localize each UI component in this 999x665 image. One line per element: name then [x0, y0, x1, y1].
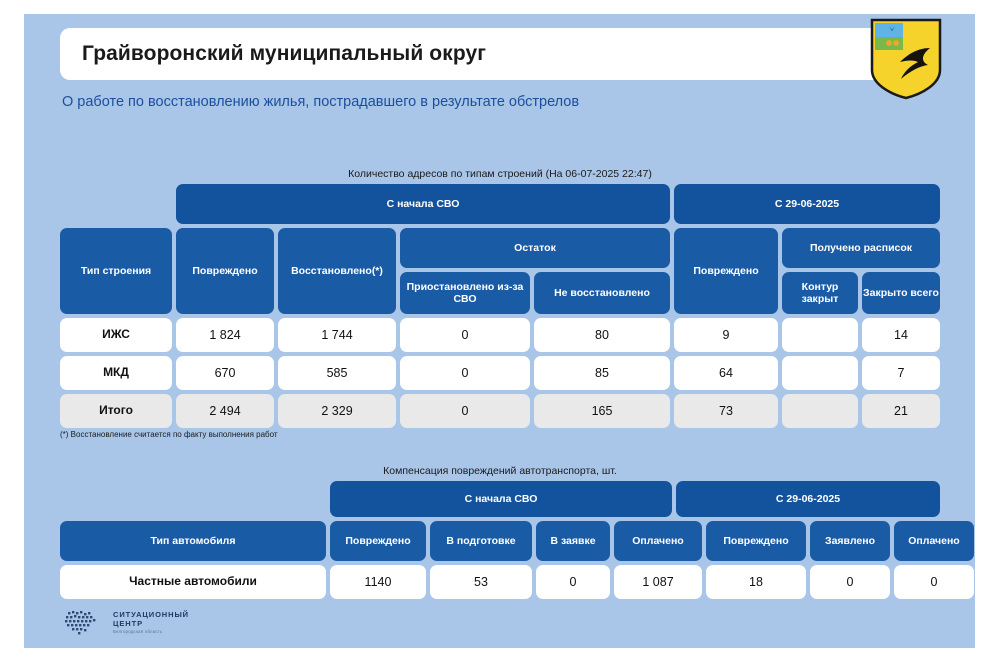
vehicles-cell-in-request: 0 [536, 565, 610, 599]
housing-cell-damaged-1: 670 [176, 356, 274, 390]
housing-group-raspiski: Получено расписок [782, 228, 940, 268]
housing-cell-type: Итого [60, 394, 172, 428]
housing-cell-contour-closed [782, 394, 858, 428]
page-title: Грайворонский муниципальный округ [60, 42, 486, 66]
vehicles-cell-damaged-2: 18 [706, 565, 806, 599]
vehicles-col-damaged-1: Повреждено [330, 521, 426, 561]
housing-cell-type: МКД [60, 356, 172, 390]
housing-cell-damaged-2: 73 [674, 394, 778, 428]
housing-table-caption: Количество адресов по типам строений (На… [60, 168, 940, 180]
housing-group-since-svo: С начала СВО [176, 184, 670, 224]
vehicles-col-paid-1: Оплачено [614, 521, 702, 561]
vehicles-col-paid-2: Оплачено [894, 521, 974, 561]
housing-cell-restored: 2 329 [278, 394, 396, 428]
housing-col-damaged-1: Повреждено [176, 228, 274, 314]
footer-line-3: Белгородская область [113, 629, 189, 634]
housing-cell-damaged-1: 2 494 [176, 394, 274, 428]
housing-cell-contour-closed [782, 356, 858, 390]
coat-of-arms-icon [870, 18, 942, 100]
slide-canvas: Грайворонский муниципальный округ О рабо… [24, 14, 975, 648]
housing-cell-damaged-2: 64 [674, 356, 778, 390]
housing-cell-suspended: 0 [400, 318, 530, 352]
housing-col-suspended: Приостановлено из-за СВО [400, 272, 530, 314]
housing-cell-closed-total: 14 [862, 318, 940, 352]
housing-col-closed-total: Закрыто всего [862, 272, 940, 314]
housing-group-since-date: С 29-06-2025 [674, 184, 940, 224]
housing-cell-closed-total: 21 [862, 394, 940, 428]
vehicles-cell-paid-1: 1 087 [614, 565, 702, 599]
vehicles-cell-damaged-1: 1140 [330, 565, 426, 599]
housing-cell-restored: 585 [278, 356, 396, 390]
housing-col-type: Тип строения [60, 228, 172, 314]
housing-group-ostatok: Остаток [400, 228, 670, 268]
housing-cell-damaged-2: 9 [674, 318, 778, 352]
vehicles-cell-declared: 0 [810, 565, 890, 599]
vehicles-group-since-date: С 29-06-2025 [676, 481, 940, 517]
vehicles-table-caption: Компенсация повреждений автотранспорта, … [60, 465, 940, 477]
footer-branding: СИТУАЦИОННЫЙ ЦЕНТР Белгородская область [62, 608, 189, 636]
housing-col-not-restored: Не восстановлено [534, 272, 670, 314]
housing-cell-suspended: 0 [400, 356, 530, 390]
region-map-icon [62, 608, 104, 636]
housing-col-restored: Восстановлено(*) [278, 228, 396, 314]
housing-cell-not-restored: 165 [534, 394, 670, 428]
housing-footnote: (*) Восстановление считается по факту вы… [60, 430, 278, 439]
housing-cell-not-restored: 80 [534, 318, 670, 352]
housing-cell-suspended: 0 [400, 394, 530, 428]
footer-line-1: СИТУАЦИОННЫЙ [113, 610, 189, 619]
housing-col-contour-closed: Контур закрыт [782, 272, 858, 314]
page-subtitle: О работе по восстановлению жилья, постра… [62, 92, 622, 113]
housing-cell-restored: 1 744 [278, 318, 396, 352]
vehicles-cell-in-prep: 53 [430, 565, 532, 599]
housing-cell-not-restored: 85 [534, 356, 670, 390]
vehicles-col-type: Тип автомобиля [60, 521, 326, 561]
housing-cell-contour-closed [782, 318, 858, 352]
housing-cell-closed-total: 7 [862, 356, 940, 390]
vehicles-cell-paid-2: 0 [894, 565, 974, 599]
vehicles-group-since-svo: С начала СВО [330, 481, 672, 517]
housing-cell-damaged-1: 1 824 [176, 318, 274, 352]
housing-col-damaged-2: Повреждено [674, 228, 778, 314]
title-bar: Грайворонский муниципальный округ [60, 28, 940, 80]
housing-cell-type: ИЖС [60, 318, 172, 352]
vehicles-col-damaged-2: Повреждено [706, 521, 806, 561]
footer-line-2: ЦЕНТР [113, 619, 189, 628]
vehicles-col-in-prep: В подготовке [430, 521, 532, 561]
vehicles-col-in-request: В заявке [536, 521, 610, 561]
vehicles-cell-type: Частные автомобили [60, 565, 326, 599]
vehicles-col-declared: Заявлено [810, 521, 890, 561]
